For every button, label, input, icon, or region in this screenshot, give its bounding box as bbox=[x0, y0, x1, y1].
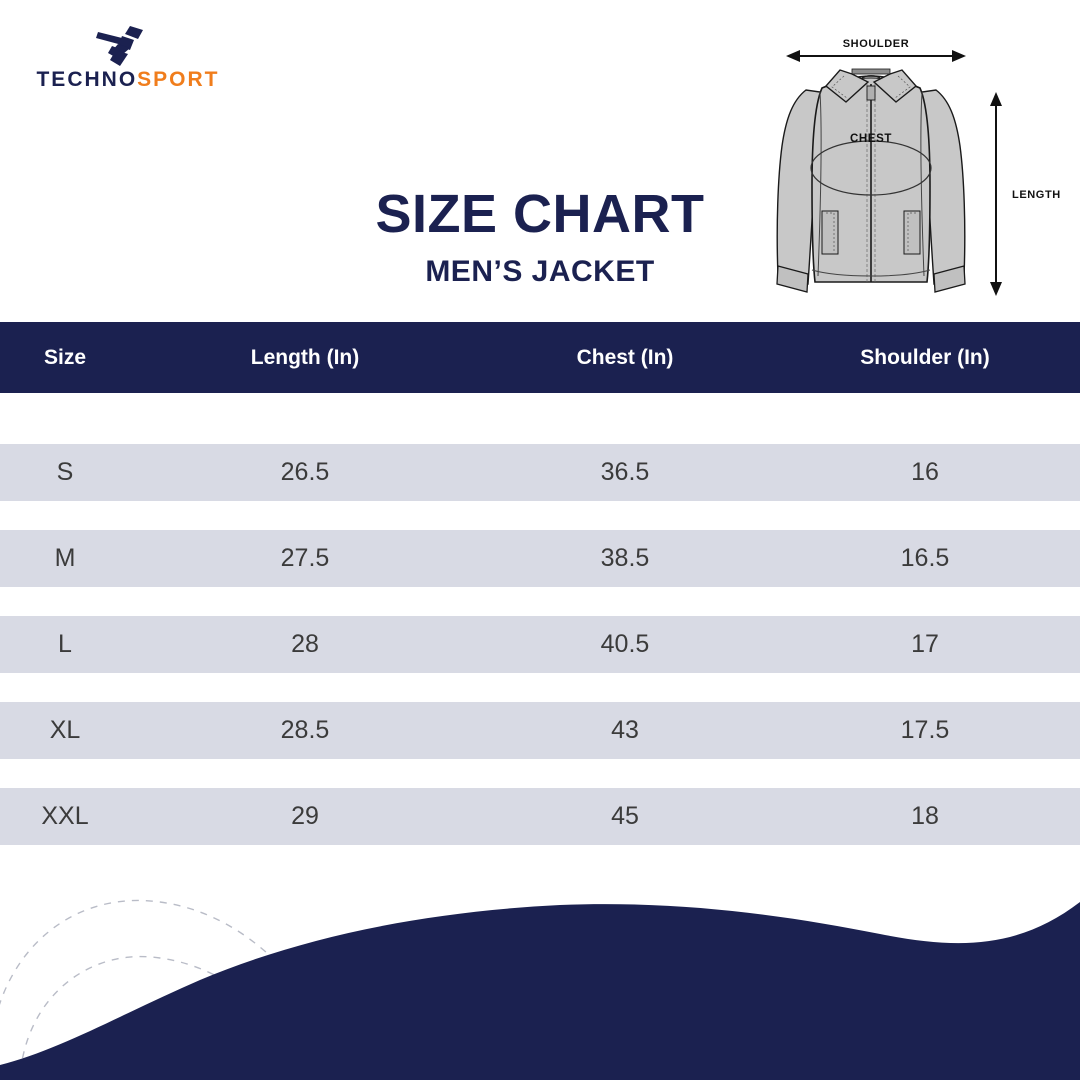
leaping-athlete-icon bbox=[86, 24, 156, 66]
table-row: M 27.5 38.5 16.5 bbox=[0, 530, 1080, 587]
brand-logo: TECHNOSPORT bbox=[18, 24, 238, 104]
table-row: XXL 29 45 18 bbox=[0, 788, 1080, 845]
length-label: LENGTH bbox=[1012, 189, 1061, 201]
cell-size: M bbox=[0, 544, 130, 573]
brand-wordmark: TECHNOSPORT bbox=[18, 68, 238, 92]
chest-label: CHEST bbox=[850, 133, 892, 145]
page-title: SIZE CHART bbox=[230, 186, 850, 243]
column-header-size: Size bbox=[0, 346, 130, 370]
cell-chest: 38.5 bbox=[480, 544, 770, 573]
cell-length: 27.5 bbox=[130, 544, 480, 573]
cell-chest: 45 bbox=[480, 802, 770, 831]
cell-shoulder: 18 bbox=[770, 802, 1080, 831]
jacket-illustration bbox=[777, 69, 965, 292]
column-header-shoulder: Shoulder (In) bbox=[770, 346, 1080, 370]
shoulder-label: SHOULDER bbox=[843, 38, 910, 50]
cell-shoulder: 16 bbox=[770, 458, 1080, 487]
page-subtitle: MEN’S JACKET bbox=[230, 255, 850, 289]
cell-length: 26.5 bbox=[130, 458, 480, 487]
cell-chest: 36.5 bbox=[480, 458, 770, 487]
cell-size: XXL bbox=[0, 802, 130, 831]
column-header-length: Length (In) bbox=[130, 346, 480, 370]
cell-length: 28.5 bbox=[130, 716, 480, 745]
table-body: S 26.5 36.5 16 M 27.5 38.5 16.5 L 28 40.… bbox=[0, 444, 1080, 845]
column-header-chest: Chest (In) bbox=[480, 346, 770, 370]
cell-size: S bbox=[0, 458, 130, 487]
footer-decoration bbox=[0, 860, 1080, 1080]
cell-chest: 43 bbox=[480, 716, 770, 745]
cell-shoulder: 17.5 bbox=[770, 716, 1080, 745]
table-row: XL 28.5 43 17.5 bbox=[0, 702, 1080, 759]
cell-chest: 40.5 bbox=[480, 630, 770, 659]
cell-size: L bbox=[0, 630, 130, 659]
table-row: S 26.5 36.5 16 bbox=[0, 444, 1080, 501]
cell-size: XL bbox=[0, 716, 130, 745]
cell-length: 28 bbox=[130, 630, 480, 659]
jacket-diagram: SHOULDER bbox=[760, 26, 1080, 322]
brand-name-part2: SPORT bbox=[137, 68, 219, 91]
navy-wave-shape bbox=[0, 902, 1080, 1080]
title-block: SIZE CHART MEN’S JACKET bbox=[230, 186, 850, 289]
size-chart-page: TECHNOSPORT SIZE CHART MEN’S JACKET SHOU… bbox=[0, 0, 1080, 1080]
size-table: Size Length (In) Chest (In) Shoulder (In… bbox=[0, 322, 1080, 874]
table-row: L 28 40.5 17 bbox=[0, 616, 1080, 673]
brand-name-part1: TECHNO bbox=[36, 68, 137, 91]
cell-shoulder: 16.5 bbox=[770, 544, 1080, 573]
cell-shoulder: 17 bbox=[770, 630, 1080, 659]
table-header-row: Size Length (In) Chest (In) Shoulder (In… bbox=[0, 322, 1080, 393]
cell-length: 29 bbox=[130, 802, 480, 831]
